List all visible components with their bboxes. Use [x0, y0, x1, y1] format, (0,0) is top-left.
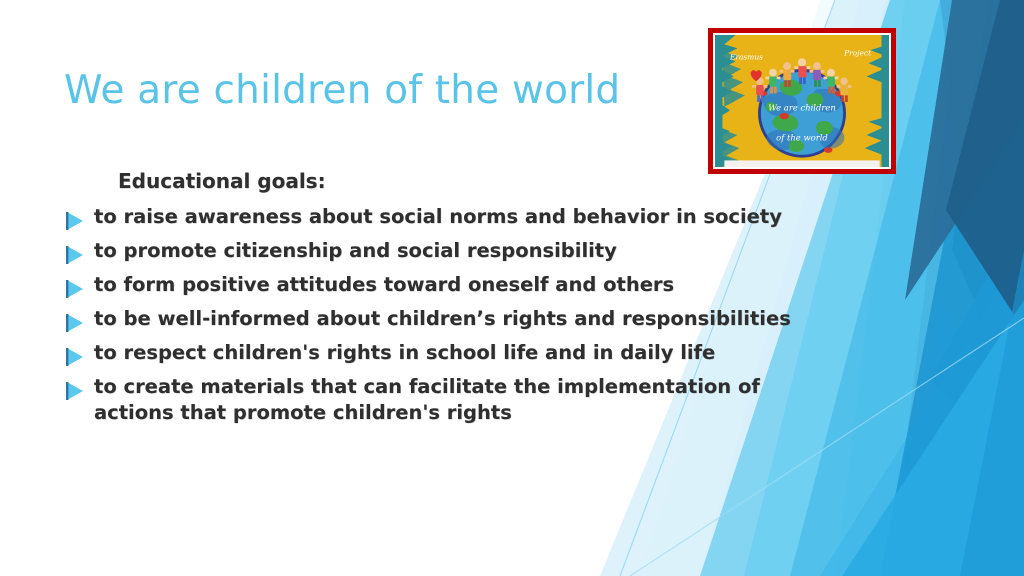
goals-heading: Educational goals:	[118, 168, 804, 195]
deco-shape-cyan-3	[880, 300, 1024, 576]
list-item-label: to be well-informed about children’s rig…	[94, 306, 791, 332]
deco-shape-cyan-4	[842, 300, 1024, 576]
page-title: We are children of the world	[64, 68, 684, 115]
list-item: to be well-informed about children’s rig…	[64, 306, 804, 333]
list-item: to promote citizenship and social respon…	[64, 238, 804, 265]
poster-label-project: Project	[843, 49, 872, 58]
list-item-label: to create materials that can facilitate …	[94, 374, 804, 426]
list-item: to raise awareness about social norms an…	[64, 204, 804, 231]
triangle-bullet-icon	[64, 381, 86, 401]
deco-shape-navy-2	[952, 0, 1024, 412]
triangle-bullet-icon	[64, 211, 86, 231]
slide: We are children of the world Educational…	[0, 0, 1024, 576]
deco-shape-cyan-2	[905, 330, 1024, 576]
deco-shape-navy-1	[940, 0, 1024, 330]
poster-image: Erasmus Project We are children of the w…	[708, 28, 896, 174]
list-item: to respect children's rights in school l…	[64, 340, 804, 367]
poster-globe-line-1: We are children	[768, 102, 836, 112]
triangle-bullet-icon	[64, 347, 86, 367]
deco-shape-azure-1	[930, 210, 1024, 470]
triangle-bullet-icon	[64, 279, 86, 299]
list-item-label: to respect children's rights in school l…	[94, 340, 715, 366]
triangle-bullet-icon	[64, 245, 86, 265]
deco-shape-navy-4	[946, 0, 1024, 330]
triangle-bullet-icon	[64, 313, 86, 333]
deco-shape-navy-3	[905, 0, 1024, 300]
poster-label-erasmus: Erasmus	[729, 52, 763, 61]
deco-shape-pale-6	[880, 0, 1024, 576]
list-item: to form positive attitudes toward onesel…	[64, 272, 804, 299]
deco-shape-cyan-5	[960, 250, 1024, 576]
poster-globe-line-2: of the world	[776, 133, 828, 143]
poster-illustration: Erasmus Project We are children of the w…	[715, 35, 889, 167]
educational-goals-list: to raise awareness about social norms an…	[64, 204, 804, 426]
content-body: Educational goals: to raise awareness ab…	[64, 168, 804, 433]
list-item-label: to promote citizenship and social respon…	[94, 238, 617, 264]
deco-shape-steel-1	[890, 0, 1024, 576]
list-item-label: to form positive attitudes toward onesel…	[94, 272, 674, 298]
deco-shape-cyan-1	[820, 250, 1024, 576]
poster-bottom-strip	[724, 160, 879, 167]
list-item-label: to raise awareness about social norms an…	[94, 204, 782, 230]
poster-artwork: Erasmus Project We are children of the w…	[715, 35, 889, 167]
list-item: to create materials that can facilitate …	[64, 374, 804, 426]
